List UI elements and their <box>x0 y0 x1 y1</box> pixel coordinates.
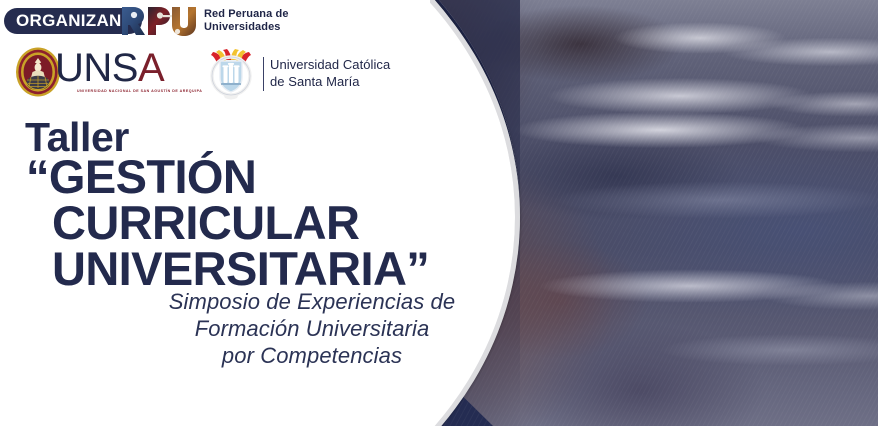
rpu-name-line1: Red Peruana de <box>204 8 289 21</box>
ucsm-crest-icon <box>205 47 257 101</box>
ucsm-name: Universidad Católica de Santa María <box>270 57 390 91</box>
title-main-line2: CURRICULAR <box>52 200 429 246</box>
unsa-letter-u: U <box>55 46 83 90</box>
subtitle-line2: Formación Universitaria <box>44 315 580 342</box>
ucsm-name-line1: Universidad Católica <box>270 57 390 74</box>
unsa-letter-n: N <box>83 46 111 90</box>
title-main-line3: UNIVERSITARIA” <box>52 246 429 292</box>
banner-content: ORGANIZAN: <box>0 0 878 426</box>
ucsm-divider <box>263 57 264 91</box>
rpu-logomark-icon <box>120 3 196 39</box>
subtitle-line1: Simposio de Experiencias de <box>44 288 580 315</box>
unsa-letter-s: S <box>112 46 138 90</box>
logo-unsa: UNSA UNIVERSIDAD NACIONAL DE SAN AGUSTÍN… <box>12 46 202 98</box>
rpu-name-line2: Universidades <box>204 21 289 34</box>
unsa-subtitle: UNIVERSIDAD NACIONAL DE SAN AGUSTÍN DE A… <box>77 89 202 93</box>
ucsm-name-line2: de Santa María <box>270 74 390 91</box>
subtitle-line3: por Competencias <box>44 342 580 369</box>
unsa-wordmark: UNSA UNIVERSIDAD NACIONAL DE SAN AGUSTÍN… <box>55 46 202 93</box>
title-main: “GESTIÓN CURRICULAR UNIVERSITARIA” <box>26 154 429 292</box>
logo-ucsm: Universidad Católica de Santa María <box>205 47 390 101</box>
unsa-acronym: UNSA <box>55 48 202 88</box>
unsa-letter-a: A <box>138 46 164 90</box>
banner-canvas: ORGANIZAN: <box>0 0 878 426</box>
rpu-name: Red Peruana de Universidades <box>203 8 289 34</box>
event-subtitle: Simposio de Experiencias de Formación Un… <box>0 288 580 369</box>
logo-rpu: Red Peruana de Universidades <box>120 3 289 39</box>
